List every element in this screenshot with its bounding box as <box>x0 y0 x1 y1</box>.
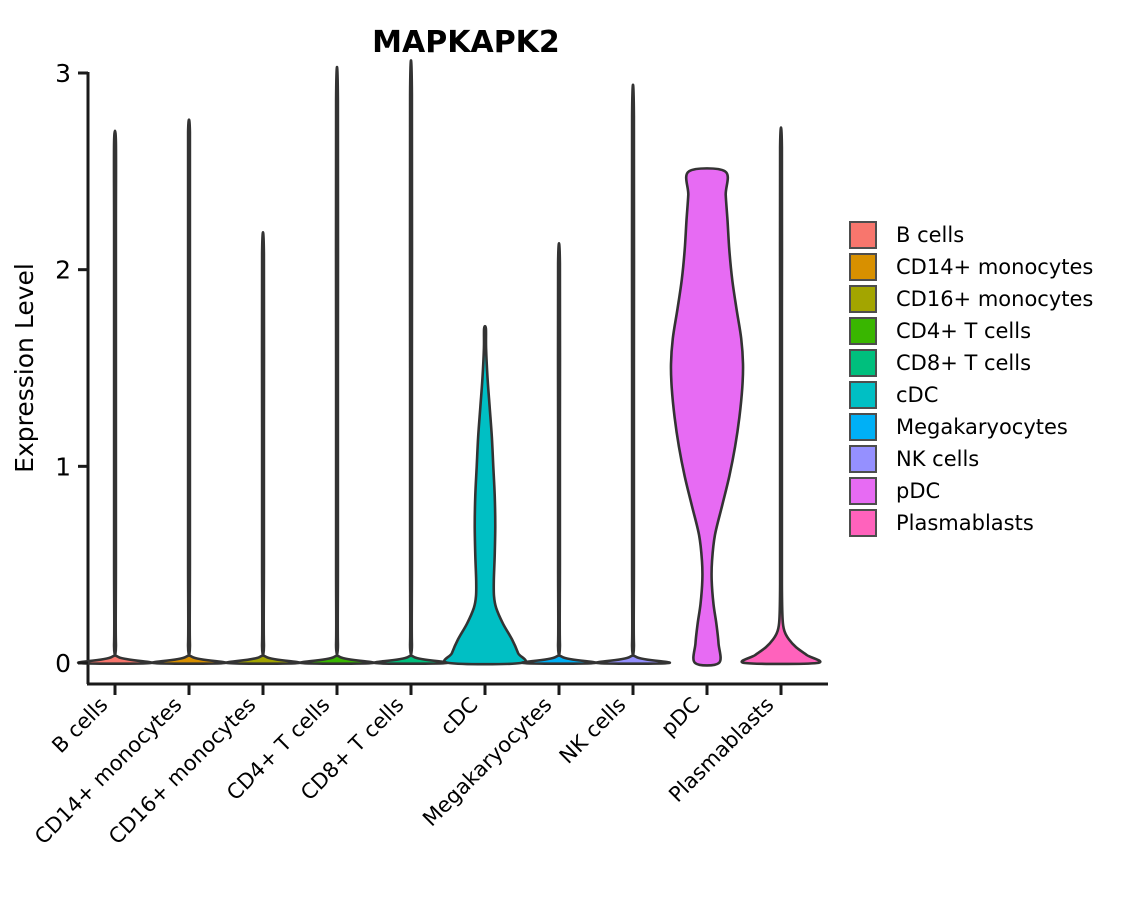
x-tick-label: B cells <box>47 693 112 758</box>
legend-item-label: pDC <box>896 481 940 502</box>
legend-swatch-icon <box>849 285 877 313</box>
page-title: MAPKAPK2 <box>372 25 560 60</box>
legend-item[interactable]: cDC <box>849 379 1093 411</box>
x-axis-ticks: B cellsCD14+ monocytesCD16+ monocytesCD4… <box>30 684 781 849</box>
plot-title-group: MAPKAPK2 <box>372 25 560 60</box>
legend-swatch-icon <box>849 381 877 409</box>
legend-swatch-icon <box>849 445 877 473</box>
x-tick-label: cDC <box>436 693 483 740</box>
x-tick-label: Megakaryocytes <box>418 693 557 832</box>
legend-item[interactable]: CD16+ monocytes <box>849 283 1093 315</box>
violin-series-group <box>78 60 820 665</box>
legend-item[interactable]: CD4+ T cells <box>849 315 1093 347</box>
violin-cd4-t-cells[interactable] <box>300 67 374 664</box>
y-axis-ticks: 0123 <box>55 59 88 678</box>
legend-swatch-icon <box>849 253 877 281</box>
violin-cdc[interactable] <box>444 326 525 664</box>
violin-plasmablasts[interactable] <box>742 128 821 664</box>
violin-megakaryocytes[interactable] <box>522 243 596 663</box>
legend-item-label: cDC <box>896 385 938 406</box>
legend-swatch-icon <box>849 477 877 505</box>
violin-cd8-t-cells[interactable] <box>374 60 448 663</box>
legend-item-label: NK cells <box>896 449 979 470</box>
legend-item-label: Plasmablasts <box>896 513 1034 534</box>
y-axis-label: Expression Level <box>10 263 39 473</box>
legend-item-label: CD8+ T cells <box>896 353 1031 374</box>
legend-swatch-icon <box>849 317 877 345</box>
legend-item[interactable]: B cells <box>849 219 1093 251</box>
y-tick-label: 3 <box>55 59 71 88</box>
legend-item-label: B cells <box>896 225 964 246</box>
legend-swatch-icon <box>849 221 877 249</box>
legend-item-label: CD4+ T cells <box>896 321 1031 342</box>
violin-cd14-monocytes[interactable] <box>152 120 226 664</box>
legend-item-label: CD16+ monocytes <box>896 289 1093 310</box>
legend-swatch-icon <box>849 413 877 441</box>
legend-item[interactable]: NK cells <box>849 443 1093 475</box>
y-axis-title-group: Expression Level <box>10 263 39 473</box>
y-tick-label: 2 <box>55 256 71 285</box>
legend-swatch-icon <box>849 509 877 537</box>
violin-plot-figure: MAPKAPK2 0123 B cellsCD14+ monocytesCD16… <box>0 0 1140 900</box>
legend-item[interactable]: Plasmablasts <box>849 507 1093 539</box>
violin-cd16-monocytes[interactable] <box>226 232 300 663</box>
legend: B cellsCD14+ monocytesCD16+ monocytesCD4… <box>849 219 1093 539</box>
legend-swatch-icon <box>849 349 877 377</box>
violin-pdc[interactable] <box>671 168 743 665</box>
x-tick-label: NK cells <box>555 693 631 769</box>
legend-item[interactable]: Megakaryocytes <box>849 411 1093 443</box>
legend-item-label: CD14+ monocytes <box>896 257 1093 278</box>
x-tick-label: pDC <box>656 693 704 741</box>
legend-item[interactable]: CD8+ T cells <box>849 347 1093 379</box>
legend-item-label: Megakaryocytes <box>896 417 1068 438</box>
y-tick-label: 0 <box>55 649 71 678</box>
violin-nk-cells[interactable] <box>596 85 670 664</box>
legend-item[interactable]: pDC <box>849 475 1093 507</box>
legend-item[interactable]: CD14+ monocytes <box>849 251 1093 283</box>
x-tick-label: CD14+ monocytes <box>30 693 187 850</box>
x-tick-label: CD16+ monocytes <box>104 693 261 850</box>
y-tick-label: 1 <box>55 452 71 481</box>
